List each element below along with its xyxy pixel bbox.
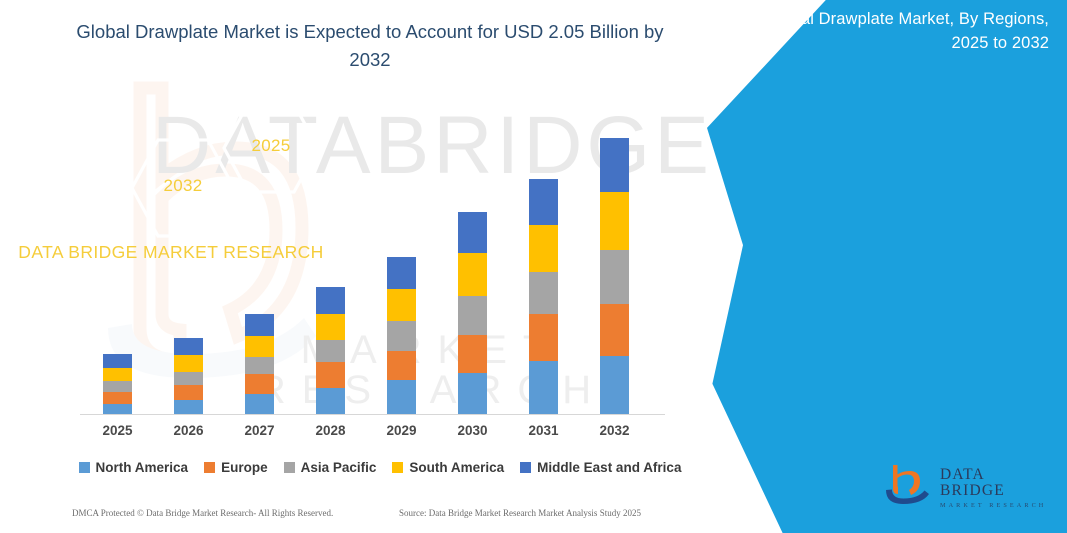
bar-2032 (600, 138, 629, 414)
bar-segment (600, 250, 629, 304)
legend-label: Asia Pacific (301, 460, 377, 475)
bar-segment (174, 400, 203, 414)
bar-segment (387, 351, 416, 380)
footer-copyright: DMCA Protected © Data Bridge Market Rese… (72, 508, 333, 518)
legend-swatch-icon (392, 462, 403, 473)
x-axis-line (80, 414, 665, 415)
legend-swatch-icon (79, 462, 90, 473)
bar-segment (600, 304, 629, 356)
legend-item[interactable]: Europe (204, 460, 268, 475)
x-axis-labels: 20252026202720282029203020312032 (80, 423, 665, 445)
bar-segment (600, 356, 629, 414)
legend-label: Middle East and Africa (537, 460, 681, 475)
bar-segment (103, 392, 132, 404)
legend-item[interactable]: South America (392, 460, 504, 475)
bar-segment (316, 388, 345, 414)
bar-segment (316, 314, 345, 340)
bar-segment (174, 372, 203, 385)
infographic-root: DATABRIDGE MARKET RESEARCH Global Drawpl… (0, 0, 1067, 533)
legend-swatch-icon (204, 462, 215, 473)
bar-2026 (174, 338, 203, 414)
bar-segment (245, 336, 274, 357)
bar-segment (387, 257, 416, 289)
bar-2025 (103, 354, 132, 414)
x-axis-label: 2030 (443, 423, 503, 438)
bar-segment (245, 374, 274, 394)
bar-2031 (529, 179, 558, 414)
bar-segment (458, 212, 487, 253)
bar-segment (174, 385, 203, 400)
x-axis-label: 2032 (585, 423, 645, 438)
bar-2027 (245, 314, 274, 414)
chart-title: Global Drawplate Market is Expected to A… (60, 18, 680, 74)
bar-segment (458, 253, 487, 296)
bar-segment (174, 338, 203, 355)
hexagon-group: 2025 2032 (110, 100, 340, 210)
legend-label: North America (96, 460, 189, 475)
bar-segment (245, 357, 274, 374)
x-axis-label: 2029 (372, 423, 432, 438)
bar-segment (245, 314, 274, 336)
bar-segment (387, 380, 416, 414)
bar-segment (458, 335, 487, 373)
right-panel (707, 0, 1067, 533)
bar-segment (600, 192, 629, 250)
bar-2030 (458, 212, 487, 414)
bar-segment (529, 179, 558, 225)
legend-swatch-icon (520, 462, 531, 473)
legend-item[interactable]: North America (79, 460, 189, 475)
bar-segment (600, 138, 629, 192)
legend-item[interactable]: Middle East and Africa (520, 460, 681, 475)
bar-segment (529, 361, 558, 414)
legend-item[interactable]: Asia Pacific (284, 460, 377, 475)
bar-segment (387, 321, 416, 351)
bar-segment (174, 355, 203, 372)
bar-segment (458, 373, 487, 414)
bar-segment (316, 340, 345, 362)
bar-segment (245, 394, 274, 414)
legend-swatch-icon (284, 462, 295, 473)
footer-source: Source: Data Bridge Market Research Mark… (399, 508, 641, 518)
x-axis-label: 2027 (230, 423, 290, 438)
panel-title: Global Drawplate Market, By Regions, 202… (759, 8, 1049, 56)
brand-logo: DATA BRIDGE MARKET RESEARCH (884, 463, 1054, 508)
bar-segment (529, 225, 558, 272)
bar-segment (387, 289, 416, 321)
bar-segment (316, 287, 345, 314)
bar-2028 (316, 287, 345, 414)
bar-segment (458, 296, 487, 335)
bar-segment (103, 381, 132, 392)
x-axis-label: 2028 (301, 423, 361, 438)
bar-segment (103, 354, 132, 368)
bar-2029 (387, 257, 416, 414)
logo-subtitle: MARKET RESEARCH (940, 502, 1052, 509)
legend-label: South America (409, 460, 504, 475)
bar-segment (103, 404, 132, 414)
chart-legend: North AmericaEuropeAsia PacificSouth Ame… (80, 456, 680, 478)
bar-segment (103, 368, 132, 381)
panel-brand-text: DATA BRIDGE MARKET RESEARCH (0, 240, 360, 265)
bar-segment (316, 362, 345, 388)
hexagon-2032-label: 2032 (128, 176, 238, 196)
logo-name: DATA BRIDGE (940, 467, 1052, 498)
logo-text-block: DATA BRIDGE MARKET RESEARCH (940, 467, 1052, 509)
bar-segment (529, 314, 558, 361)
x-axis-label: 2025 (88, 423, 148, 438)
bar-segment (529, 272, 558, 314)
data-bridge-logo-icon (884, 463, 938, 507)
legend-label: Europe (221, 460, 268, 475)
x-axis-label: 2026 (159, 423, 219, 438)
hexagon-2032: 2032 (128, 136, 238, 240)
x-axis-label: 2031 (514, 423, 574, 438)
